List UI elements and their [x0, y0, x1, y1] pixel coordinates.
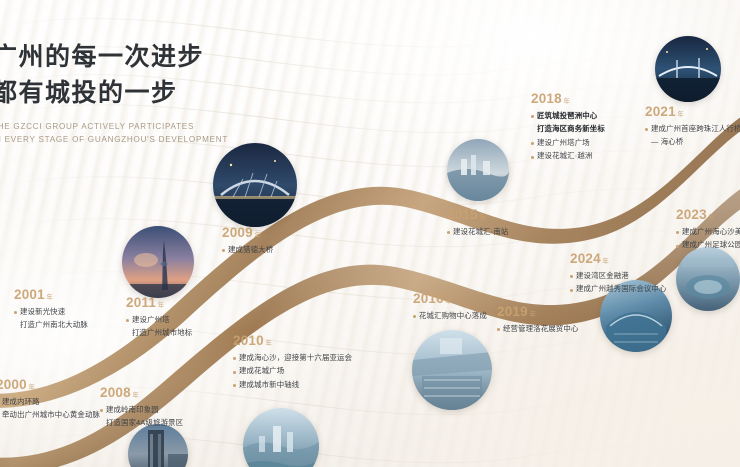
year-suffix: 年 — [563, 98, 570, 105]
timeline-item: 建设广州塔 — [126, 315, 192, 326]
year-suffix: 年 — [254, 232, 261, 239]
timeline-block-2009: 2009年建成猎德大桥 — [222, 226, 273, 258]
timeline-item: 建成岭南印象园 — [100, 405, 183, 416]
bullet-icon — [447, 231, 450, 234]
timeline-year-label: 2018年 — [531, 92, 605, 106]
timeline-year-label: 2024年 — [570, 252, 667, 266]
timeline-item: 花城汇购物中心落成 — [413, 311, 487, 322]
year-suffix: 年 — [265, 340, 272, 347]
timeline-year-label: 2011年 — [126, 296, 192, 310]
timeline-year-label: 2023年 — [676, 208, 740, 222]
timeline-year-label: 2008年 — [100, 386, 183, 400]
timeline-item: 建设花城汇·越洲 — [531, 151, 605, 162]
bullet-icon — [531, 115, 534, 118]
year-suffix: 年 — [708, 214, 715, 221]
bullet-icon — [413, 315, 416, 318]
timeline-item: 建设广州塔广场 — [531, 138, 605, 149]
year-suffix: 年 — [46, 294, 53, 301]
headline-subtitle: THE GZCCI GROUP ACTIVELY PARTICIPATES IN… — [0, 120, 322, 146]
timeline-item-subtext: — 海心桥 — [651, 137, 740, 148]
bullet-icon — [233, 371, 236, 374]
timeline-year-label: 2001年 — [14, 288, 88, 302]
timeline-item-text: 建设花城汇·南站 — [453, 227, 508, 238]
timeline-item: 建成广州越秀国际会议中心 — [570, 284, 667, 295]
timeline-block-2023: 2023年建成广州海心沙美道建成广州足球公园 — [676, 208, 740, 254]
timeline-item: 建成猎德大桥 — [222, 245, 273, 256]
timeline-item-text: 建设湾区金融港 — [576, 271, 629, 282]
timeline-item-text: 建设广州塔广场 — [537, 138, 590, 149]
headline-line-1: 广州的每一次进步 — [0, 40, 322, 76]
timeline-item: 经营管理洛花展贸中心 — [497, 324, 578, 335]
bullet-icon — [570, 289, 573, 292]
timeline-item-text: 建成广州越秀国际会议中心 — [576, 284, 667, 295]
timeline-year-label: 2009年 — [222, 226, 273, 240]
timeline-block-2021: 2021年建成广州首座跨珠江人行桥— 海心桥 — [645, 105, 740, 151]
year-suffix: 年 — [479, 214, 486, 221]
timeline-year-label: 2015年 — [447, 208, 508, 222]
timeline-item-text: 建成岭南印象园 — [106, 405, 159, 416]
timeline-block-2008: 2008年建成岭南印象园打造国家4A级旅游景区 — [100, 386, 183, 432]
timeline-item-text: 花城汇购物中心落成 — [419, 311, 487, 322]
timeline-item: 建设花城汇·南站 — [447, 227, 508, 238]
timeline-item-text: 建设花城汇·越洲 — [537, 151, 592, 162]
bullet-icon — [233, 384, 236, 387]
bullet-icon — [570, 275, 573, 278]
timeline-item-text: 经营管理洛花展贸中心 — [503, 324, 578, 335]
timeline-item-subtext: 打造广州南北大动脉 — [20, 320, 88, 331]
timeline-block-2019: 2019年经营管理洛花展贸中心 — [497, 305, 578, 337]
timeline-item-subtext: 打造海区商务新坐标 — [537, 124, 605, 135]
photo-haixin-bridge — [655, 36, 721, 102]
bullet-icon — [497, 328, 500, 331]
photo-huacheng-mall — [412, 330, 492, 410]
timeline-item-text: 建成内环路 — [2, 397, 40, 408]
timeline-year-label: 2016年 — [413, 292, 487, 306]
year-suffix: 年 — [28, 384, 35, 391]
timeline-block-2024: 2024年建设湾区金融港建成广州越秀国际会议中心 — [570, 252, 667, 298]
poster-canvas: 广州的每一次进步 都有城投的一步 THE GZCCI GROUP ACTIVEL… — [0, 0, 740, 467]
timeline-item: 建成内环路 — [0, 397, 100, 408]
photo-haixinsha — [447, 139, 509, 201]
timeline-year-label: 2019年 — [497, 305, 578, 319]
timeline-item-text: 建成广州首座跨珠江人行桥 — [651, 124, 740, 135]
timeline-block-2011: 2011年建设广州塔打造广州城市地标 — [126, 296, 192, 342]
timeline-item: 建成花城广场 — [233, 366, 352, 377]
subtitle-line-2: IN EVERY STAGE OF GUANGZHOU'S DEVELOPMEN… — [0, 133, 322, 146]
bullet-icon — [531, 142, 534, 145]
timeline-item-text: 建成花城广场 — [239, 366, 284, 377]
year-suffix: 年 — [445, 298, 452, 305]
bullet-icon — [14, 311, 17, 314]
photo-sports-park — [676, 247, 740, 311]
bullet-icon — [222, 249, 225, 252]
timeline-item-text: 建设新光快速 — [20, 307, 65, 318]
timeline-item-text: 建成海心沙，迎接第十六届亚运会 — [239, 353, 352, 364]
bullet-icon — [676, 245, 679, 248]
timeline-item-subtext: 打造国家4A级旅游景区 — [106, 418, 183, 429]
timeline-year-label: 2000年 — [0, 378, 100, 392]
timeline-item: 建成广州足球公园 — [676, 240, 740, 251]
photo-liede-bridge — [213, 143, 297, 227]
timeline-year-label: 2010年 — [233, 334, 352, 348]
timeline-item-text: 匠筑城投琶洲中心 — [537, 111, 597, 122]
timeline-item: 建设新光快速 — [14, 307, 88, 318]
headline-line-2: 都有城投的一步 — [0, 76, 322, 112]
timeline-item: 建成城市新中轴线 — [233, 380, 352, 391]
timeline-item: 建成广州海心沙美道 — [676, 227, 740, 238]
bullet-icon — [645, 128, 648, 131]
headline-block: 广州的每一次进步 都有城投的一步 THE GZCCI GROUP ACTIVEL… — [0, 40, 322, 146]
year-suffix: 年 — [132, 392, 139, 399]
bullet-icon — [676, 231, 679, 234]
timeline-item-text: 建成广州海心沙美道 — [682, 227, 740, 238]
timeline-block-2018: 2018年匠筑城投琶洲中心打造海区商务新坐标建设广州塔广场建设花城汇·越洲 — [531, 92, 605, 165]
photo-guangzhou-tower — [122, 226, 194, 298]
bullet-icon — [233, 357, 236, 360]
year-suffix: 年 — [602, 258, 609, 265]
subtitle-line-1: THE GZCCI GROUP ACTIVELY PARTICIPATES — [0, 120, 322, 133]
timeline-item-subtext: 打造广州城市地标 — [132, 328, 192, 339]
timeline-item: 建成海心沙，迎接第十六届亚运会 — [233, 353, 352, 364]
year-suffix: 年 — [529, 311, 536, 318]
bullet-icon — [100, 409, 103, 412]
timeline-item-text: 建设广州塔 — [132, 315, 170, 326]
timeline-item-text: 建成广州足球公园 — [682, 240, 740, 251]
timeline-block-2000: 2000年建成内环路牵动出广州城市中心黄金动脉 — [0, 378, 100, 424]
timeline-block-2016: 2016年花城汇购物中心落成 — [413, 292, 487, 324]
timeline-item: 建设湾区金融港 — [570, 271, 667, 282]
timeline-year-label: 2021年 — [645, 105, 740, 119]
year-suffix: 年 — [677, 111, 684, 118]
year-suffix: 年 — [158, 302, 165, 309]
bullet-icon — [126, 319, 129, 322]
timeline-block-2015: 2015年建设花城汇·南站 — [447, 208, 508, 240]
timeline-block-2001: 2001年建设新光快速打造广州南北大动脉 — [14, 288, 88, 334]
timeline-item-subtext: 牵动出广州城市中心黄金动脉 — [2, 410, 100, 421]
timeline-item-text: 建成城市新中轴线 — [239, 380, 299, 391]
timeline-item-text: 建成猎德大桥 — [228, 245, 273, 256]
timeline-block-2010: 2010年建成海心沙，迎接第十六届亚运会建成花城广场建成城市新中轴线 — [233, 334, 352, 393]
bullet-icon — [531, 156, 534, 159]
timeline-item: 匠筑城投琶洲中心 — [531, 111, 605, 122]
timeline-item: 建成广州首座跨珠江人行桥 — [645, 124, 740, 135]
